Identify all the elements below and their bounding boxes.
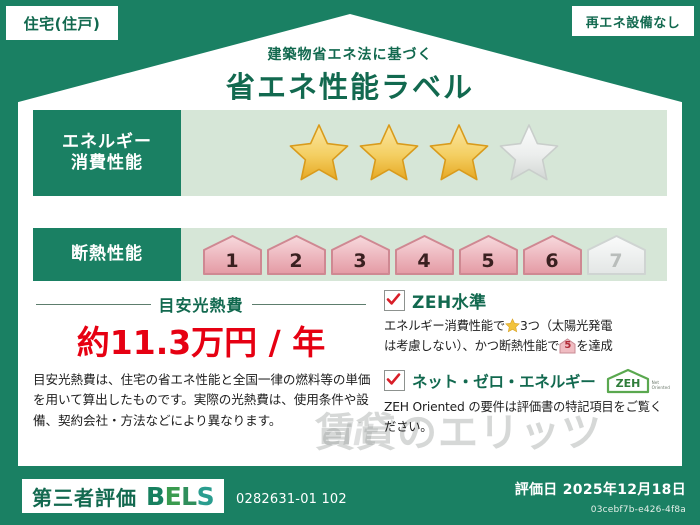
bels-letter-b: B [146,482,165,511]
zeh-logo-subtext: Net Oriented [652,381,670,394]
bels-certificate-number: 0282631-01 102 [236,492,347,507]
check-icon [386,292,401,307]
insulation-level-number: 3 [330,250,391,272]
energy-performance-row: エネルギー 消費性能 [33,110,667,196]
label-footer: 第三者評価 BELS 0282631-01 102 評価日 2025年12月18… [0,467,700,525]
star-empty-icon [498,123,560,183]
label-subtitle: 建築物省エネ法に基づく [0,44,700,64]
badge-renewable-energy: 再エネ設備なし [572,6,694,36]
insulation-level-4: 4 [394,234,455,276]
insulation-level-5: 5 [458,234,519,276]
insulation-level-3: 3 [330,234,391,276]
bels-japanese-label: 第三者評価 [32,482,137,511]
zeh-logo-sub2: Oriented [652,385,670,390]
insulation-level-number: 4 [394,250,455,272]
energy-label-line2: 消費性能 [71,153,143,174]
zeh-netzero-checkbox[interactable] [384,370,405,391]
zeh-standard-row: ZEH水準 [384,288,672,313]
bels-letter-s: S [197,482,215,511]
zeh-desc-part1: エネルギー消費性能で [384,319,505,333]
star-filled-icon [358,123,420,183]
star-filled-icon [288,123,350,183]
badge-building-type: 住宅(住戸) [6,6,118,40]
zeh-block: ZEH水準 エネルギー消費性能で3つ（太陽光発電 は考慮しない）、かつ断熱性能で… [384,288,672,438]
zeh-standard-checkbox[interactable] [384,290,405,311]
energy-performance-label-box: エネルギー 消費性能 [33,110,181,196]
svg-text:ZEH: ZEH [615,377,640,390]
label-title: 省エネ性能ラベル [0,64,700,106]
utility-cost-heading: 目安光熱費 [36,292,366,316]
energy-label-line1: エネルギー [62,132,152,153]
zeh-logo: ZEH Net Oriented [606,368,670,394]
insulation-performance-value: 1234567 [181,228,667,281]
evaluation-hash: 03cebf7b-e426-4f8a [591,505,686,515]
zeh-netzero-title: ネット・ゼロ・エネルギー [412,370,596,392]
insulation-label: 断熱性能 [71,244,143,265]
insulation-performance-label-box: 断熱性能 [33,228,181,281]
insulation-level-number: 6 [522,250,583,272]
utility-cost-heading-text: 目安光熱費 [159,292,244,316]
insulation-level-number: 7 [586,250,647,272]
zeh-netzero-row: ネット・ゼロ・エネルギー ZEH Net Oriented [384,368,672,394]
zeh-standard-title: ZEH水準 [412,288,487,313]
insulation-performance-row: 断熱性能 1234567 [33,228,667,281]
inline-house-level: 5 [559,338,576,354]
energy-performance-value [181,110,667,196]
zeh-standard-description: エネルギー消費性能で3つ（太陽光発電 は考慮しない）、かつ断熱性能で5を達成 [384,317,672,357]
inline-house-icon: 5 [559,338,576,354]
insulation-level-6: 6 [522,234,583,276]
zeh-house-logo-icon: ZEH [606,368,650,394]
insulation-level-7: 7 [586,234,647,276]
insulation-level-scale: 1234567 [202,234,647,276]
insulation-level-1: 1 [202,234,263,276]
check-icon [386,372,401,387]
inline-star-icon [505,318,520,333]
bels-letter-e: E [165,482,182,511]
evaluation-date: 評価日 2025年12月18日 [515,479,686,499]
zeh-desc-star-count: 3つ（太陽光発電 [520,319,612,333]
zeh-desc-part2: は考慮しない）、かつ断熱性能で [384,339,559,353]
insulation-level-number: 2 [266,250,327,272]
energy-performance-label: 住宅(住戸) 再エネ設備なし 建築物省エネ法に基づく 省エネ性能ラベル エネルギ… [0,0,700,525]
star-rating [288,123,560,183]
utility-cost-amount: 約11.3万円 / 年 [36,316,366,364]
heading-rule-right [252,304,367,305]
insulation-level-number: 1 [202,250,263,272]
utility-cost-note: 目安光熱費は、住宅の省エネ性能と全国一律の燃料等の単価を用いて算出したものです。… [33,370,373,431]
heading-rule-left [36,304,151,305]
bels-certification-box: 第三者評価 BELS [22,479,224,513]
zeh-netzero-description: ZEH Oriented の要件は評価書の特記項目をご覧ください。 [384,398,672,438]
star-filled-icon [428,123,490,183]
insulation-level-number: 5 [458,250,519,272]
insulation-level-2: 2 [266,234,327,276]
bels-logo: BELS [146,482,214,511]
zeh-desc-part3: を達成 [576,339,612,353]
bels-letter-l: L [181,482,196,511]
